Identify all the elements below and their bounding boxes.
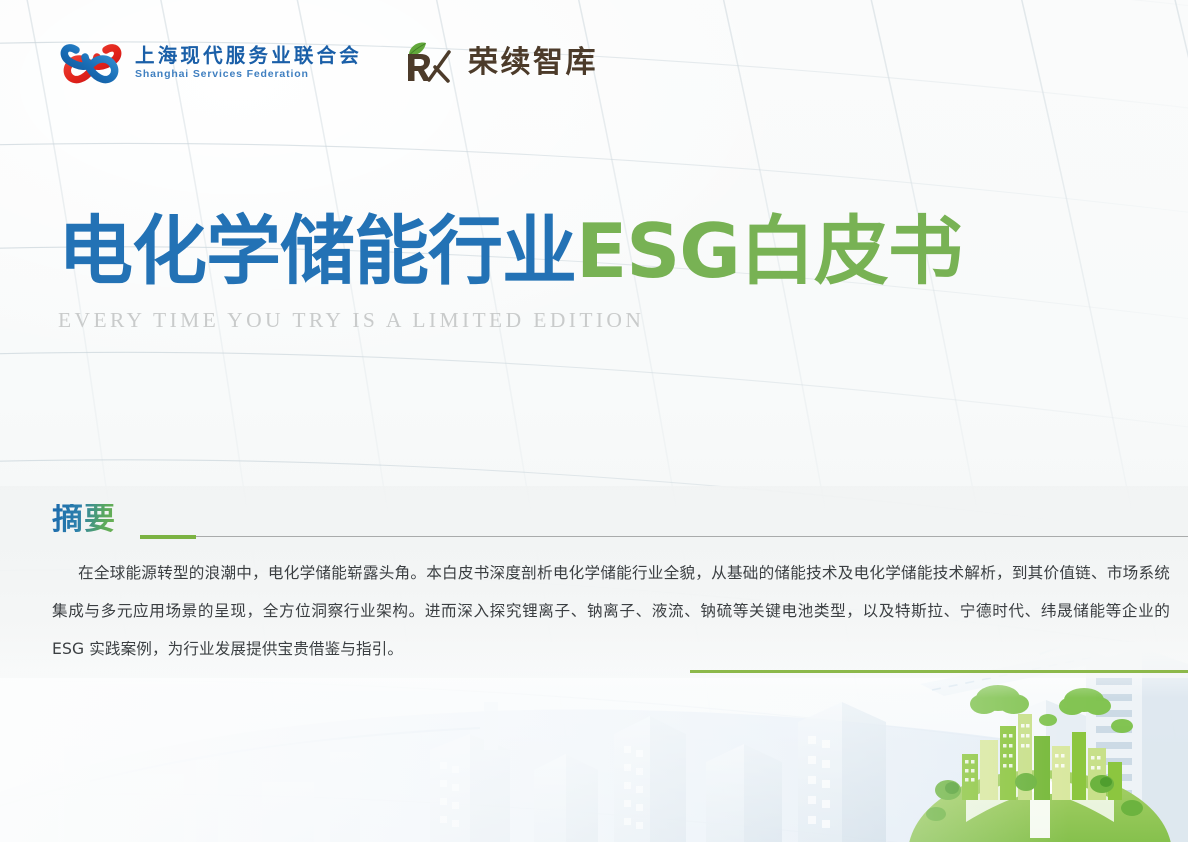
title-part-green: ESG白皮书 bbox=[576, 207, 962, 295]
cover-page: 上海现代服务业联合会 Shanghai Services Federation … bbox=[0, 0, 1188, 842]
federation-name-cn: 上海现代服务业联合会 bbox=[135, 46, 362, 66]
abstract-rule-gray bbox=[196, 536, 1188, 537]
abstract-underline bbox=[690, 670, 1188, 673]
abstract-body-text: 在全球能源转型的浪潮中，电化学储能崭露头角。本白皮书深度剖析电化学储能行业全貌，… bbox=[52, 554, 1170, 668]
rx-leaf-monogram-icon bbox=[400, 41, 456, 85]
page-title: 电化学储能行业ESG白皮书 bbox=[58, 214, 962, 289]
think-tank-name-cn: 荣续智库 bbox=[468, 48, 598, 78]
abstract-heading: 摘要 bbox=[52, 504, 116, 535]
logo-rongxu-think-tank: 荣续智库 bbox=[400, 41, 598, 85]
federation-name-en: Shanghai Services Federation bbox=[135, 69, 362, 80]
title-part-blue: 电化学储能行业 bbox=[58, 207, 576, 295]
page-subtitle: EVERY TIME YOU TRY IS A LIMITED EDITION bbox=[58, 308, 962, 333]
title-block: 电化学储能行业ESG白皮书 EVERY TIME YOU TRY IS A LI… bbox=[58, 214, 962, 333]
logo-bar: 上海现代服务业联合会 Shanghai Services Federation … bbox=[58, 40, 598, 86]
logo-shanghai-services-federation: 上海现代服务业联合会 Shanghai Services Federation bbox=[58, 40, 362, 86]
federation-mark-icon bbox=[58, 40, 124, 86]
abstract-section: 摘要 在全球能源转型的浪潮中，电化学储能崭露头角。本白皮书深度剖析电化学储能行业… bbox=[0, 486, 1188, 686]
federation-wordmark: 上海现代服务业联合会 Shanghai Services Federation bbox=[135, 46, 362, 79]
abstract-heading-row: 摘要 bbox=[52, 504, 116, 535]
abstract-rule-green bbox=[140, 535, 196, 539]
